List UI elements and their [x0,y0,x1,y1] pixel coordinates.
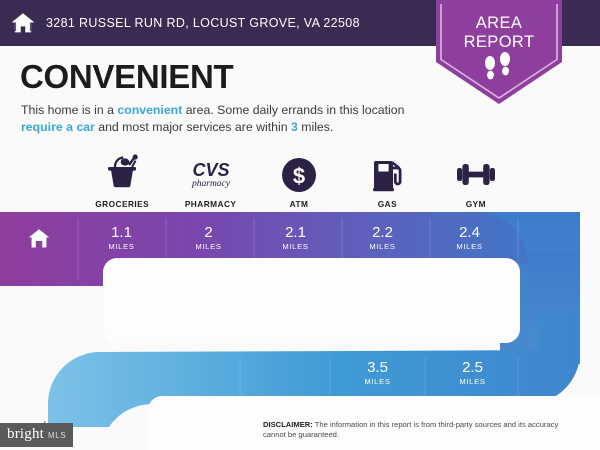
distance-value: 2.1 [285,225,306,241]
category-pharmacy: CVS pharmacy PHARMACY [166,152,254,209]
desc-part-2: area. Some daily errands in this locatio… [182,103,404,117]
distance-labels-row-1: 1.1 MILES 2 MILES 2.1 MILES 2.2 MILES 2.… [0,212,600,264]
property-address: 3281 RUSSEL RUN RD, LOCUST GROVE, VA 225… [46,16,360,30]
svg-text:$: $ [293,164,305,189]
cvs-pharmacy-logo: CVS pharmacy [182,152,240,194]
distance-value: 2.2 [372,225,393,241]
desc-part-1: This home is in a [21,103,117,117]
header-right-fill [562,0,600,46]
gas-pump-icon [367,152,407,194]
area-report-page: 3281 RUSSEL RUN RD, LOCUST GROVE, VA 225… [0,0,600,450]
desc-highlight-convenient: convenient [117,103,182,117]
category-groceries: GROCERIES [78,152,166,209]
bar-home-icon [0,212,78,264]
distance-gym: 2.4 MILES [426,212,513,264]
distance-value: 1.1 [111,225,132,241]
distance-unit: MILES [459,377,485,386]
svg-text:pharmacy: pharmacy [191,179,231,189]
category-label: GROCERIES [95,199,149,209]
home-icon [0,0,46,46]
desc-part-4: miles. [298,120,334,134]
page-title: CONVENIENT [20,58,233,96]
badge-line-2: REPORT [436,33,562,52]
category-gas: GAS [343,152,431,209]
svg-text:CVS: CVS [192,160,229,180]
grocery-basket-icon [101,152,143,194]
category-label: ATM [290,199,309,209]
second-row-card [103,258,520,343]
distance-spacer [513,212,600,264]
watermark-brand: bright [7,426,44,443]
distance-value: 2.4 [459,225,480,241]
bright-mls-watermark: bright MLS [0,423,73,447]
desc-highlight-require-a-car: require a car [21,120,95,134]
desc-highlight-miles: 3 [291,120,298,134]
distance-unit: MILES [364,377,390,386]
desc-part-3: and most major services are within [95,120,291,134]
distance-labels-row-2: 3.5 MILES 2.5 MILES [330,350,520,396]
distance-value: 2.5 [462,360,483,376]
area-report-badge-text: AREA REPORT [436,14,562,52]
dumbbell-icon [453,152,499,194]
distance-unit: MILES [282,242,308,251]
distance-medical: 2.5 MILES [425,350,520,396]
category-label: PHARMACY [185,199,237,209]
watermark-mls: MLS [48,431,66,440]
category-atm: $ ATM [255,152,343,209]
category-icons-row-1: GROCERIES CVS pharmacy PHARMACY $ ATM [78,152,520,209]
area-report-badge: AREA REPORT [436,0,562,104]
distance-coffee: 3.5 MILES [330,350,425,396]
distance-gas: 2.2 MILES [339,212,426,264]
report-description: This home is in a convenient area. Some … [21,102,421,135]
distance-value: 3.5 [367,360,388,376]
badge-line-1: AREA [436,14,562,33]
distance-pharmacy: 2 MILES [165,212,252,264]
distance-unit: MILES [108,242,134,251]
distance-atm: 2.1 MILES [252,212,339,264]
dollar-coin-icon: $ [279,152,319,194]
disclaimer: DISCLAIMER: The information in this repo… [263,420,568,440]
distance-unit: MILES [456,242,482,251]
distance-unit: MILES [195,242,221,251]
category-label: GAS [378,199,397,209]
disclaimer-label: DISCLAIMER: [263,420,313,429]
category-gym: GYM [432,152,520,209]
footprints-icon [482,52,516,88]
distance-value: 2 [204,225,212,241]
distance-unit: MILES [369,242,395,251]
category-label: GYM [466,199,486,209]
distance-groceries: 1.1 MILES [78,212,165,264]
